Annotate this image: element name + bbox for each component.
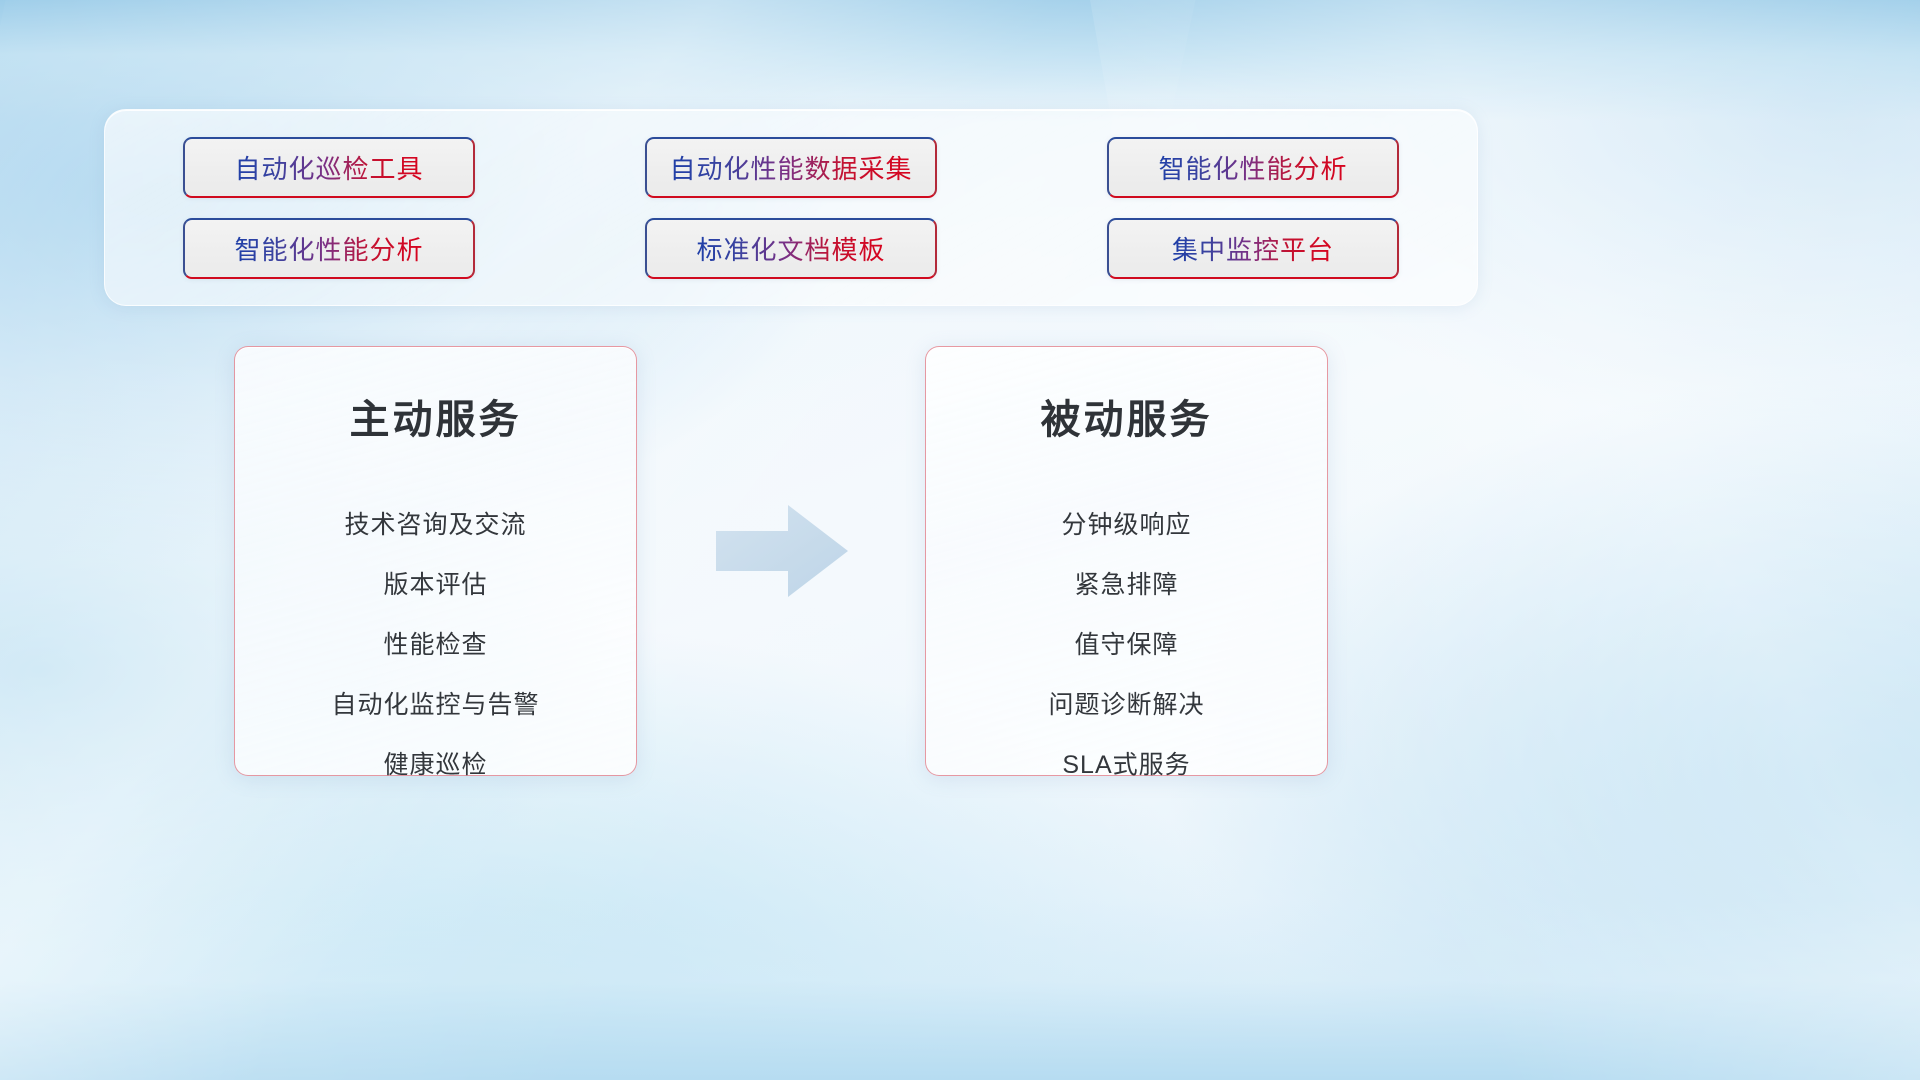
capability-chip-intelligent-performance-analysis[interactable]: 智能化性能分析 xyxy=(1107,137,1399,198)
capability-chip-label: 智能化性能分析 xyxy=(1158,149,1347,186)
capability-chip-automated-performance-data-collection[interactable]: 自动化性能数据采集 xyxy=(645,137,937,198)
right-arrow-icon xyxy=(716,505,848,597)
capability-chip-intelligent-performance-analysis-2[interactable]: 智能化性能分析 xyxy=(183,218,475,279)
capability-row-2: 智能化性能分析 标准化文档模板 集中监控平台 xyxy=(183,218,1399,279)
service-list-item: 值守保障 xyxy=(1074,625,1178,661)
capability-chip-standardized-document-template[interactable]: 标准化文档模板 xyxy=(645,218,937,279)
service-card-title: 主动服务 xyxy=(350,387,522,445)
service-list-item: 版本评估 xyxy=(383,565,487,601)
service-item-list: 分钟级响应 紧急排障 值守保障 问题诊断解决 SLA式服务 xyxy=(1048,505,1204,781)
capability-chip-label: 智能化性能分析 xyxy=(234,230,423,267)
capability-panel: 自动化巡检工具 自动化性能数据采集 智能化性能分析 智能化性能分析 标准化文档模… xyxy=(104,109,1478,306)
service-card-active: 主动服务 技术咨询及交流 版本评估 性能检查 自动化监控与告警 健康巡检 xyxy=(234,346,637,776)
capability-chip-label: 自动化性能数据采集 xyxy=(669,149,912,186)
capability-chip-label: 自动化巡检工具 xyxy=(234,149,423,186)
service-list-item: 技术咨询及交流 xyxy=(344,505,526,541)
service-card-passive: 被动服务 分钟级响应 紧急排障 值守保障 问题诊断解决 SLA式服务 xyxy=(925,346,1328,776)
service-item-list: 技术咨询及交流 版本评估 性能检查 自动化监控与告警 健康巡检 xyxy=(331,505,539,781)
service-list-item: 性能检查 xyxy=(383,625,487,661)
service-list-item: 紧急排障 xyxy=(1074,565,1178,601)
capability-chip-automated-inspection-tool[interactable]: 自动化巡检工具 xyxy=(183,137,475,198)
service-list-item: 分钟级响应 xyxy=(1061,505,1191,541)
service-list-item: 健康巡检 xyxy=(383,745,487,781)
service-list-item: 自动化监控与告警 xyxy=(331,685,539,721)
capability-chip-centralized-monitoring-platform[interactable]: 集中监控平台 xyxy=(1107,218,1399,279)
service-list-item: 问题诊断解决 xyxy=(1048,685,1204,721)
capability-chip-label: 集中监控平台 xyxy=(1172,230,1334,267)
service-card-title: 被动服务 xyxy=(1041,387,1213,445)
capability-row-1: 自动化巡检工具 自动化性能数据采集 智能化性能分析 xyxy=(183,137,1399,198)
service-list-item: SLA式服务 xyxy=(1062,745,1190,781)
capability-chip-label: 标准化文档模板 xyxy=(696,230,885,267)
